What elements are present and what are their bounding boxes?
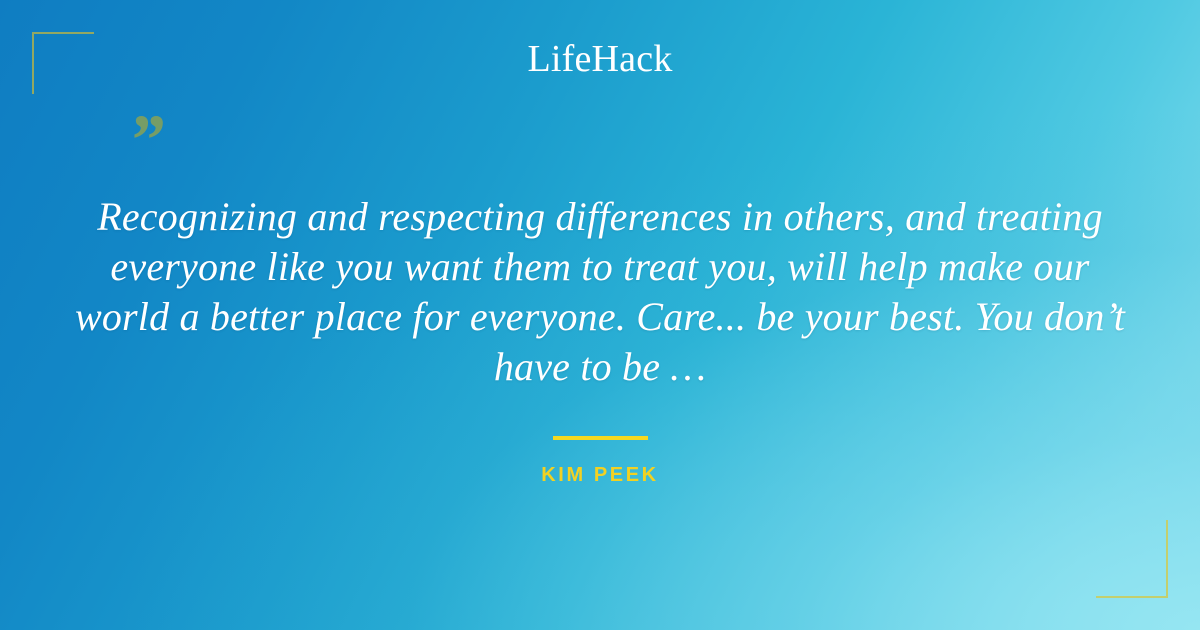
quote-author: KIM PEEK	[0, 464, 1200, 487]
corner-bracket-bottom-right-icon	[1096, 520, 1168, 598]
lifehack-logo: LifeHack	[0, 36, 1200, 82]
quote-text: Recognizing and respecting differences i…	[70, 192, 1130, 392]
quotation-mark-icon: ”	[128, 104, 164, 176]
attribution-divider	[553, 436, 648, 440]
quote-block: Recognizing and respecting differences i…	[70, 192, 1130, 392]
quote-card: LifeHack ” Recognizing and respecting di…	[0, 0, 1200, 630]
